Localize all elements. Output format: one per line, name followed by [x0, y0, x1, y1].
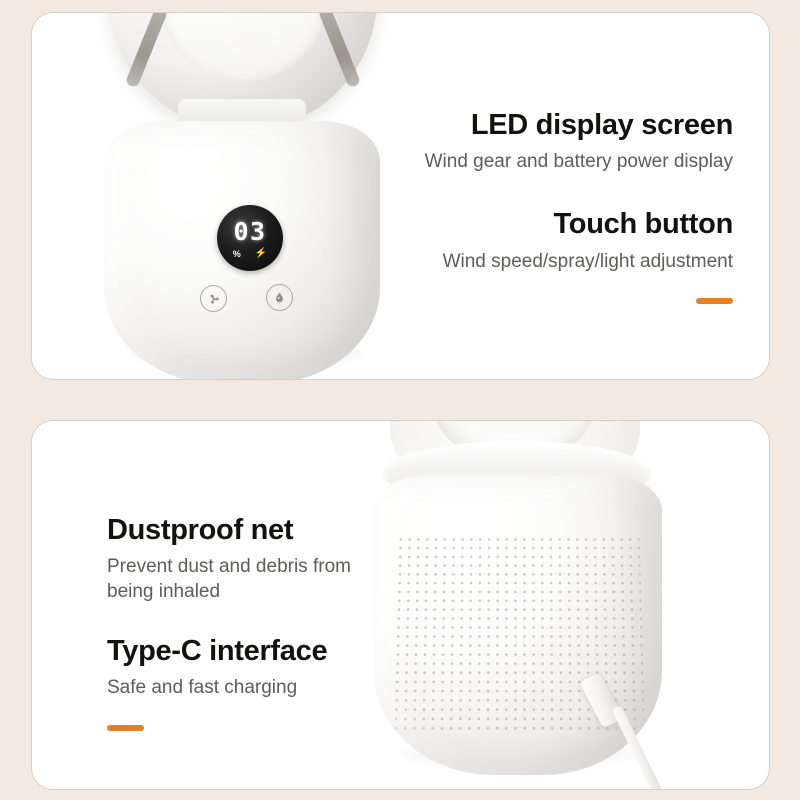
- fan-ring-inner: [159, 12, 327, 81]
- feature-title-touch-button: Touch button: [313, 208, 733, 240]
- accent-bar: [107, 725, 144, 731]
- lightning-bolt-icon: ⚡: [255, 249, 267, 259]
- dustproof-typec-panel: Dustproof net Prevent dust and debris fr…: [31, 420, 770, 790]
- led-display-icons: % ⚡: [233, 249, 267, 259]
- feature-title-dustproof-net: Dustproof net: [107, 514, 437, 546]
- water-droplet-icon: [273, 291, 286, 304]
- product-feature-page: 03 % ⚡: [0, 0, 800, 800]
- led-display-value: 03: [233, 219, 266, 244]
- spacer: [107, 605, 437, 635]
- dustproof-typec-text-block: Dustproof net Prevent dust and debris fr…: [107, 514, 437, 731]
- fan-ring-accent-strip-left: [125, 12, 169, 88]
- spacer: [313, 175, 733, 208]
- led-touch-text-block: LED display screen Wind gear and battery…: [313, 109, 733, 304]
- feature-title-led-display: LED display screen: [313, 109, 733, 141]
- led-display-screen: 03 % ⚡: [217, 205, 283, 271]
- percent-icon: %: [233, 250, 241, 259]
- spray-button[interactable]: [266, 284, 293, 311]
- led-touch-panel: 03 % ⚡: [31, 12, 770, 380]
- fan-speed-button[interactable]: [200, 285, 227, 312]
- feature-title-type-c-interface: Type-C interface: [107, 635, 437, 667]
- fan-icon: [207, 292, 221, 306]
- feature-subtitle-type-c-interface: Safe and fast charging: [107, 676, 437, 701]
- feature-subtitle-led-display: Wind gear and battery power display: [313, 150, 733, 175]
- feature-subtitle-dustproof-net: Prevent dust and debris from being inhal…: [107, 555, 367, 604]
- feature-subtitle-touch-button: Wind speed/spray/light adjustment: [313, 250, 733, 275]
- fan-ring-accent-strip-right: [318, 12, 362, 88]
- accent-bar: [696, 298, 733, 304]
